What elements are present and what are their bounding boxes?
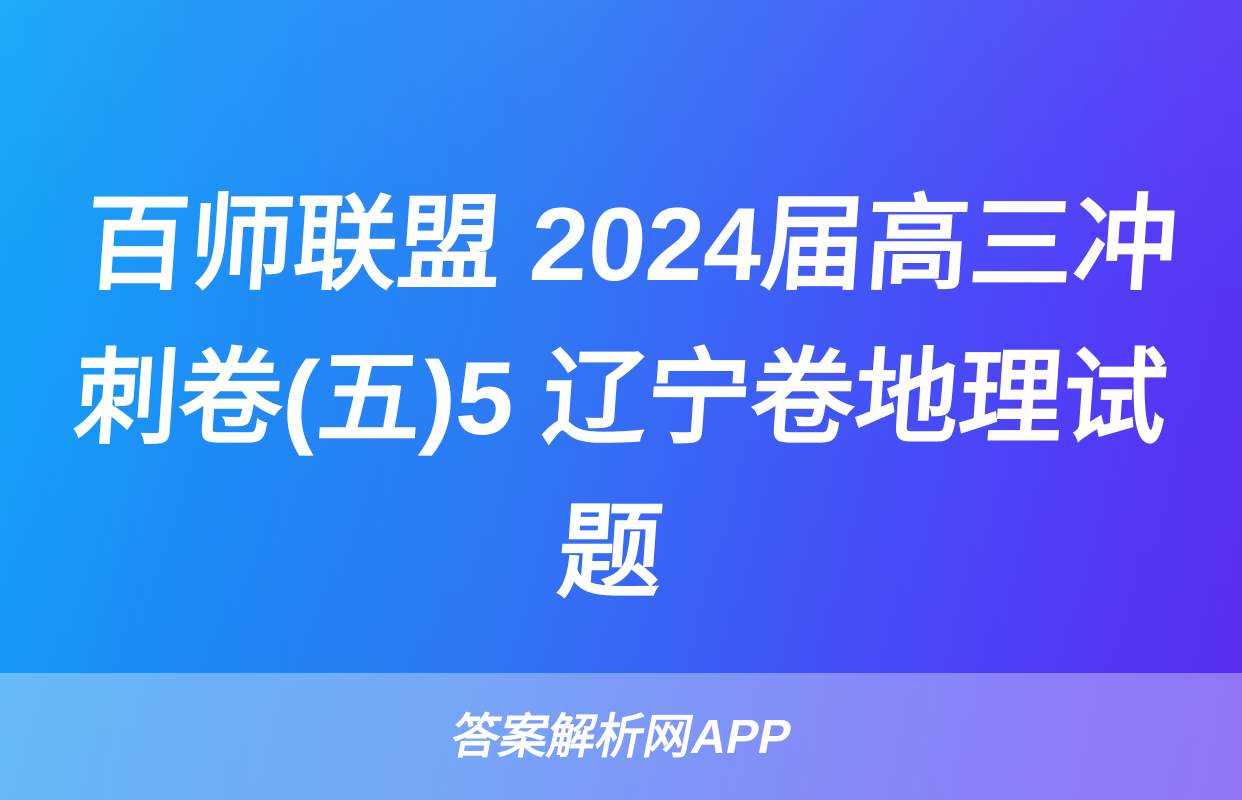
footer-brand-band: 答案解析网APP xyxy=(0,673,1242,800)
app-brand-label: 答案解析网APP xyxy=(447,714,795,762)
page-title: 百师联盟 2024届高三冲刺卷(五)5 辽宁卷地理试题 xyxy=(58,168,1184,630)
share-card: 百师联盟 2024届高三冲刺卷(五)5 辽宁卷地理试题 答案解析网APP xyxy=(0,0,1242,800)
title-container: 百师联盟 2024届高三冲刺卷(五)5 辽宁卷地理试题 xyxy=(0,168,1242,630)
